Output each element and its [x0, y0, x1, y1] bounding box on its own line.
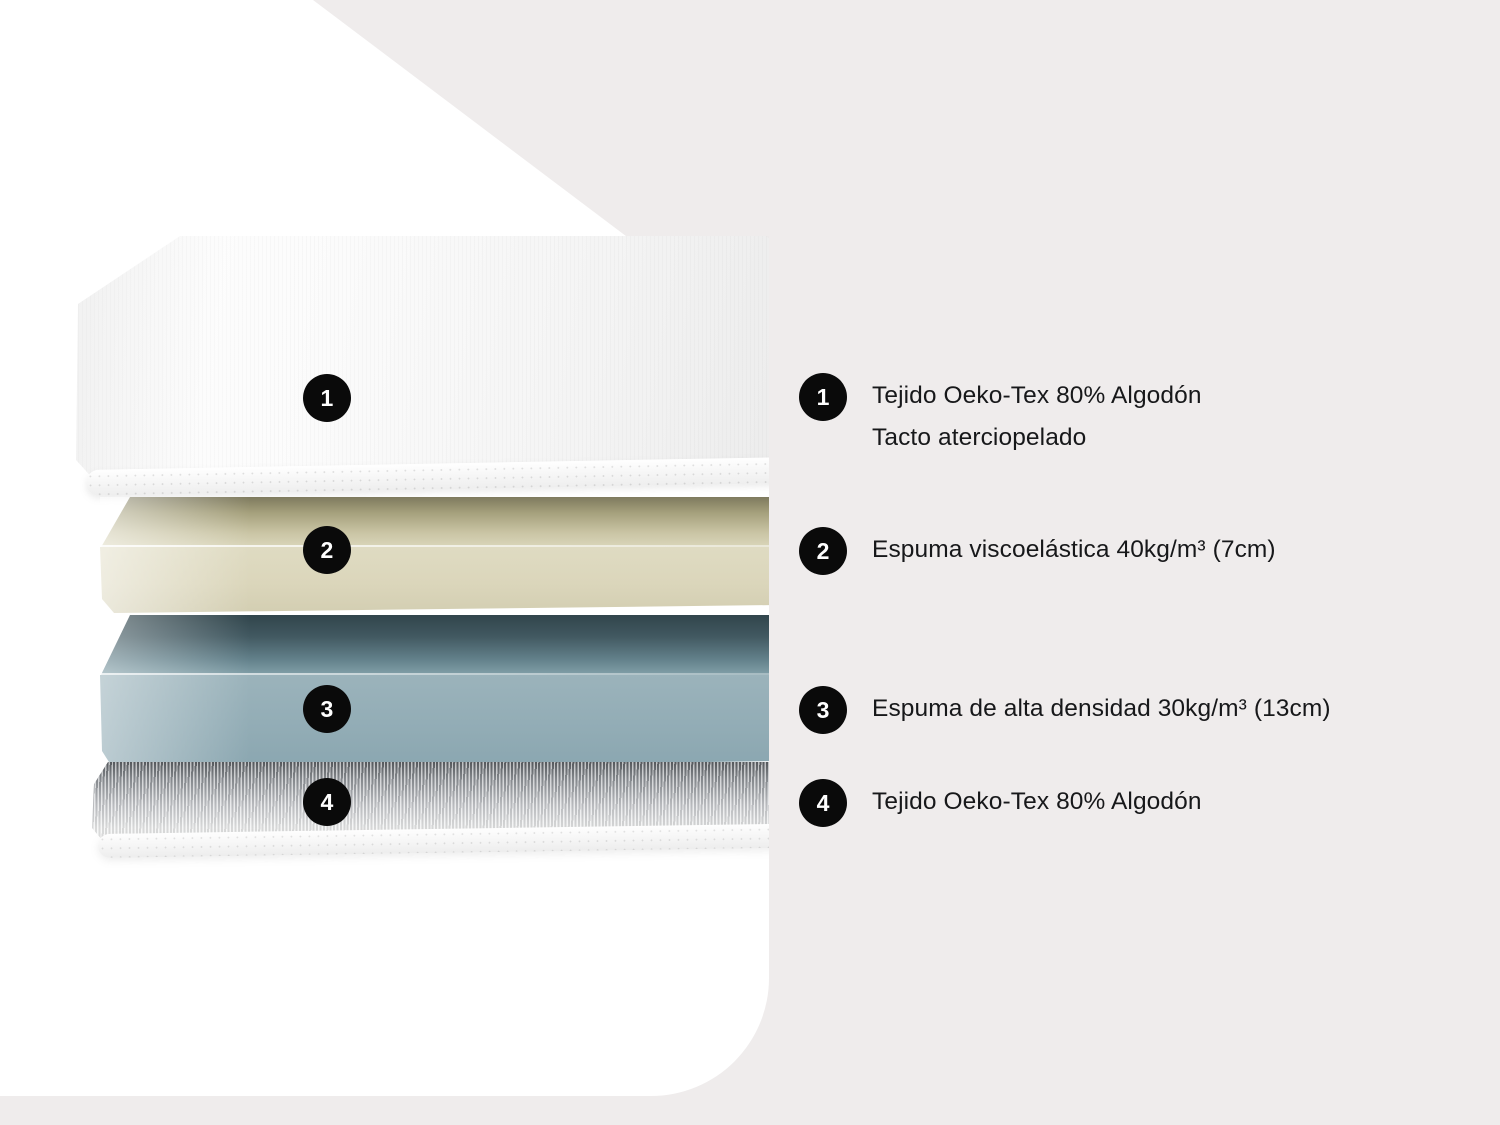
- legend-item-4: 4 Tejido Oeko-Tex 80% Algodón: [799, 779, 1202, 827]
- layer-2-memory-foam: [100, 497, 769, 613]
- legend-label-1-line1: Tejido Oeko-Tex 80% Algodón: [872, 382, 1202, 409]
- legend-label-2-line1: Espuma viscoelástica 40kg/m³ (7cm): [872, 536, 1276, 563]
- layer-1-edge-shading: [62, 232, 272, 500]
- layer-2-top-bevel: [100, 497, 769, 549]
- legend-label-3-line1: Espuma de alta densidad 30kg/m³ (13cm): [872, 695, 1331, 722]
- layer-1-top-cover: [62, 232, 769, 500]
- legend-badge-3: 3: [799, 686, 847, 734]
- legend-badge-4: 4: [799, 779, 847, 827]
- legend-badge-1: 1: [799, 373, 847, 421]
- product-badge-1: 1: [303, 374, 351, 422]
- mattress-layers-infographic: 1 2 3 4 1 Tejido Oeko-Tex 80% Algodón Ta…: [0, 0, 1500, 1125]
- legend-item-1: 1 Tejido Oeko-Tex 80% Algodón Tacto ater…: [799, 373, 1202, 459]
- layer-3-top-bevel: [100, 615, 769, 677]
- layer-4-bottom-fabric: [88, 762, 769, 866]
- legend-label-2: Espuma viscoelástica 40kg/m³ (7cm): [872, 527, 1276, 571]
- legend: 1 Tejido Oeko-Tex 80% Algodón Tacto ater…: [799, 0, 1459, 1125]
- product-badge-2: 2: [303, 526, 351, 574]
- legend-label-4-line1: Tejido Oeko-Tex 80% Algodón: [872, 788, 1202, 815]
- legend-item-3: 3 Espuma de alta densidad 30kg/m³ (13cm): [799, 686, 1331, 734]
- layer-3-front-face: [100, 675, 769, 770]
- mattress-stack: 1 2 3 4: [0, 0, 769, 1096]
- legend-item-2: 2 Espuma viscoelástica 40kg/m³ (7cm): [799, 527, 1276, 575]
- legend-label-3: Espuma de alta densidad 30kg/m³ (13cm): [872, 686, 1331, 730]
- product-badge-3: 3: [303, 685, 351, 733]
- legend-label-1-line2: Tacto aterciopelado: [872, 417, 1202, 459]
- legend-label-4: Tejido Oeko-Tex 80% Algodón: [872, 779, 1202, 823]
- legend-badge-2: 2: [799, 527, 847, 575]
- legend-label-1: Tejido Oeko-Tex 80% Algodón Tacto aterci…: [872, 373, 1202, 459]
- product-badge-4: 4: [303, 778, 351, 826]
- layer-2-front-face: [100, 547, 769, 613]
- layer-3-high-density-foam: [100, 615, 769, 770]
